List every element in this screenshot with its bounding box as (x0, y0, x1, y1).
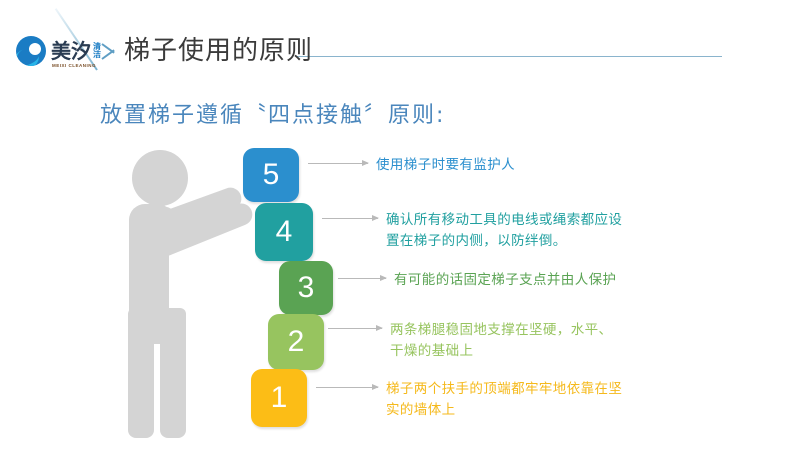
logo-brand-name-en: MEIXI CLEANING (52, 63, 96, 68)
stack-block-1[interactable]: 1 (251, 369, 307, 427)
caption-text-4: 确认所有移动工具的电线或绳索都应设置在梯子的内侧，以防绊倒。 (386, 210, 622, 252)
person-head (132, 150, 188, 206)
connector-arrow-2 (328, 328, 382, 329)
stack-block-2[interactable]: 2 (268, 314, 324, 370)
stack-block-3[interactable]: 3 (279, 261, 333, 315)
caption-line-2: 实的墙体上 (386, 400, 622, 421)
slide-header: 美汐 清 洁 MEIXI CLEANING 梯子使用的原则 (0, 0, 800, 80)
caption-line-1: 确认所有移动工具的电线或绳索都应设 (386, 210, 622, 231)
arrowhead-icon (372, 215, 379, 221)
arrowhead-icon (376, 325, 383, 331)
connector-arrow-5 (308, 163, 368, 164)
caption-text-3: 有可能的话固定梯子支点并由人保护 (394, 270, 616, 291)
connector-arrow-1 (316, 387, 378, 388)
caption-line-1: 梯子两个扶手的顶端都牢牢地依靠在坚 (386, 379, 622, 400)
caption-line-1: 使用梯子时要有监护人 (376, 155, 515, 176)
page-title: 梯子使用的原则 (124, 30, 313, 67)
slide-subtitle: 放置梯子遵循〝四点接触〞原则: (100, 97, 445, 129)
arrowhead-icon (372, 384, 379, 390)
header-underline (296, 56, 722, 57)
caption-text-1: 梯子两个扶手的顶端都牢牢地依靠在坚实的墙体上 (386, 379, 622, 421)
caption-line-2: 干燥的基础上 (390, 341, 612, 362)
caption-line-1: 两条梯腿稳固地支撑在坚硬，水平、 (390, 320, 612, 341)
connector-arrow-4 (322, 218, 378, 219)
connector-arrow-3 (338, 278, 386, 279)
header-chevron-icon (102, 39, 116, 65)
arrowhead-icon (380, 275, 387, 281)
caption-text-5: 使用梯子时要有监护人 (376, 155, 515, 176)
logo-circle-icon (16, 36, 46, 66)
logo-brand-suffix: 清 洁 (93, 43, 101, 60)
arrowhead-icon (362, 160, 369, 166)
logo-suffix-bottom: 洁 (93, 51, 101, 59)
caption-line-1: 有可能的话固定梯子支点并由人保护 (394, 270, 616, 291)
slide-canvas: 美汐 清 洁 MEIXI CLEANING 梯子使用的原则 放置梯子遵循〝四点接… (0, 0, 800, 449)
caption-line-2: 置在梯子的内侧，以防绊倒。 (386, 231, 622, 252)
stack-block-4[interactable]: 4 (255, 203, 313, 261)
caption-text-2: 两条梯腿稳固地支撑在坚硬，水平、干燥的基础上 (390, 320, 612, 362)
stack-block-5[interactable]: 5 (243, 148, 299, 202)
logo-brand-name-cn: 美汐 (51, 41, 91, 61)
brand-logo[interactable]: 美汐 清 洁 MEIXI CLEANING (16, 36, 101, 66)
